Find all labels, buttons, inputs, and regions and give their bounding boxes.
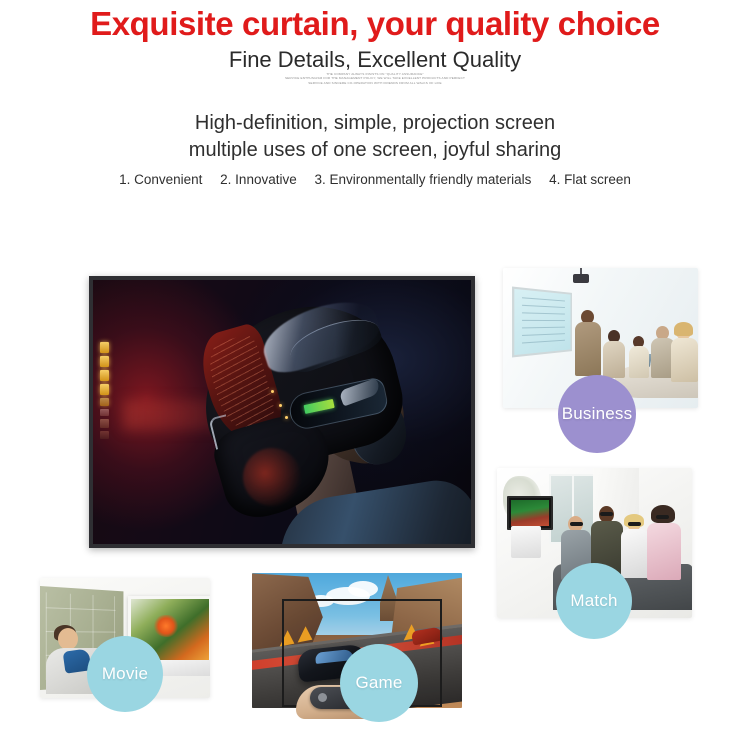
attendee-person xyxy=(629,336,649,378)
feature-item-1: 1. Convenient xyxy=(119,172,202,187)
3d-glasses-icon xyxy=(628,522,641,526)
product-description: High-definition, simple, projection scre… xyxy=(0,110,750,164)
3d-glasses-icon xyxy=(600,512,613,516)
scene-badge-game: Game xyxy=(340,644,418,722)
hero-projection-screen xyxy=(89,276,475,548)
viewer-person xyxy=(621,516,649,578)
presentation-whiteboard xyxy=(512,286,572,357)
butterfly-image xyxy=(153,615,179,637)
scene-card-business: Business xyxy=(503,268,698,458)
microtext-line-3: SERVICE AND SINCERE CO-OPERATION WITH FR… xyxy=(0,81,750,85)
attendee-person xyxy=(603,330,625,378)
scene-badge-movie: Movie xyxy=(87,636,163,712)
whiteboard-content-lines xyxy=(522,297,565,347)
3d-glasses-icon xyxy=(656,515,669,519)
scene-card-movie: Movie xyxy=(40,578,220,718)
hero-screen-surface xyxy=(93,280,471,544)
feature-item-3: 3. Environmentally friendly materials xyxy=(315,172,532,187)
helmet-indicator-light xyxy=(279,404,282,407)
hero-cyberpunk-figure xyxy=(93,280,471,544)
television xyxy=(507,496,553,530)
3d-glasses-icon xyxy=(570,522,583,526)
visor-hud-readout xyxy=(303,399,334,414)
feature-list: 1. Convenient 2. Innovative 3. Environme… xyxy=(0,172,750,187)
company-policy-microtext: THE COMPANY ALWAYS INSISTS ON "QUALITY A… xyxy=(0,72,750,85)
product-banner-page: Exquisite curtain, your quality choice F… xyxy=(0,0,750,750)
description-line-2: multiple uses of one screen, joyful shar… xyxy=(0,137,750,164)
feature-item-4: 4. Flat screen xyxy=(549,172,631,187)
feature-item-2: 2. Innovative xyxy=(220,172,297,187)
scene-badge-business: Business xyxy=(558,375,636,453)
page-headline: Exquisite curtain, your quality choice xyxy=(0,6,750,42)
viewer-person xyxy=(647,508,681,580)
scene-card-match: Match xyxy=(497,468,697,658)
description-line-1: High-definition, simple, projection scre… xyxy=(0,110,750,137)
scene-card-game: Game xyxy=(252,573,467,728)
scene-badge-match: Match xyxy=(556,563,632,639)
page-subheadline: Fine Details, Excellent Quality xyxy=(0,47,750,72)
tv-stand xyxy=(511,526,541,558)
ceiling-projector-icon xyxy=(573,274,589,283)
tv-screen-sports-content xyxy=(511,500,549,526)
presenter-person xyxy=(575,310,601,376)
attendee-person xyxy=(671,324,698,382)
cloud xyxy=(348,581,378,597)
helmet-indicator-light xyxy=(285,416,288,419)
helmet-indicator-light xyxy=(271,390,274,393)
